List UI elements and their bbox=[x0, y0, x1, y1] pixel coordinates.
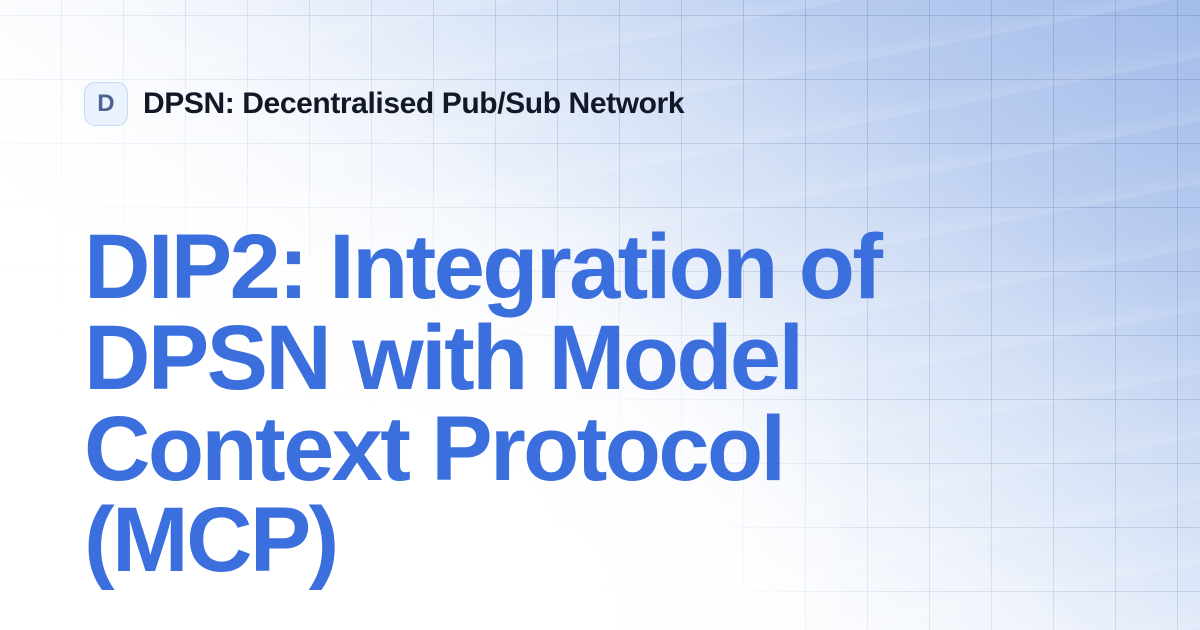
og-card: D DPSN: Decentralised Pub/Sub Network DI… bbox=[0, 0, 1200, 630]
page-title: DIP2: Integration of DPSN with Model Con… bbox=[84, 222, 984, 586]
brand-name: DPSN: Decentralised Pub/Sub Network bbox=[143, 89, 684, 119]
brand-row: D DPSN: Decentralised Pub/Sub Network bbox=[84, 82, 684, 126]
card-content: D DPSN: Decentralised Pub/Sub Network DI… bbox=[0, 0, 1200, 630]
letter-badge-icon: D bbox=[84, 82, 128, 126]
brand-badge-letter: D bbox=[97, 92, 115, 116]
